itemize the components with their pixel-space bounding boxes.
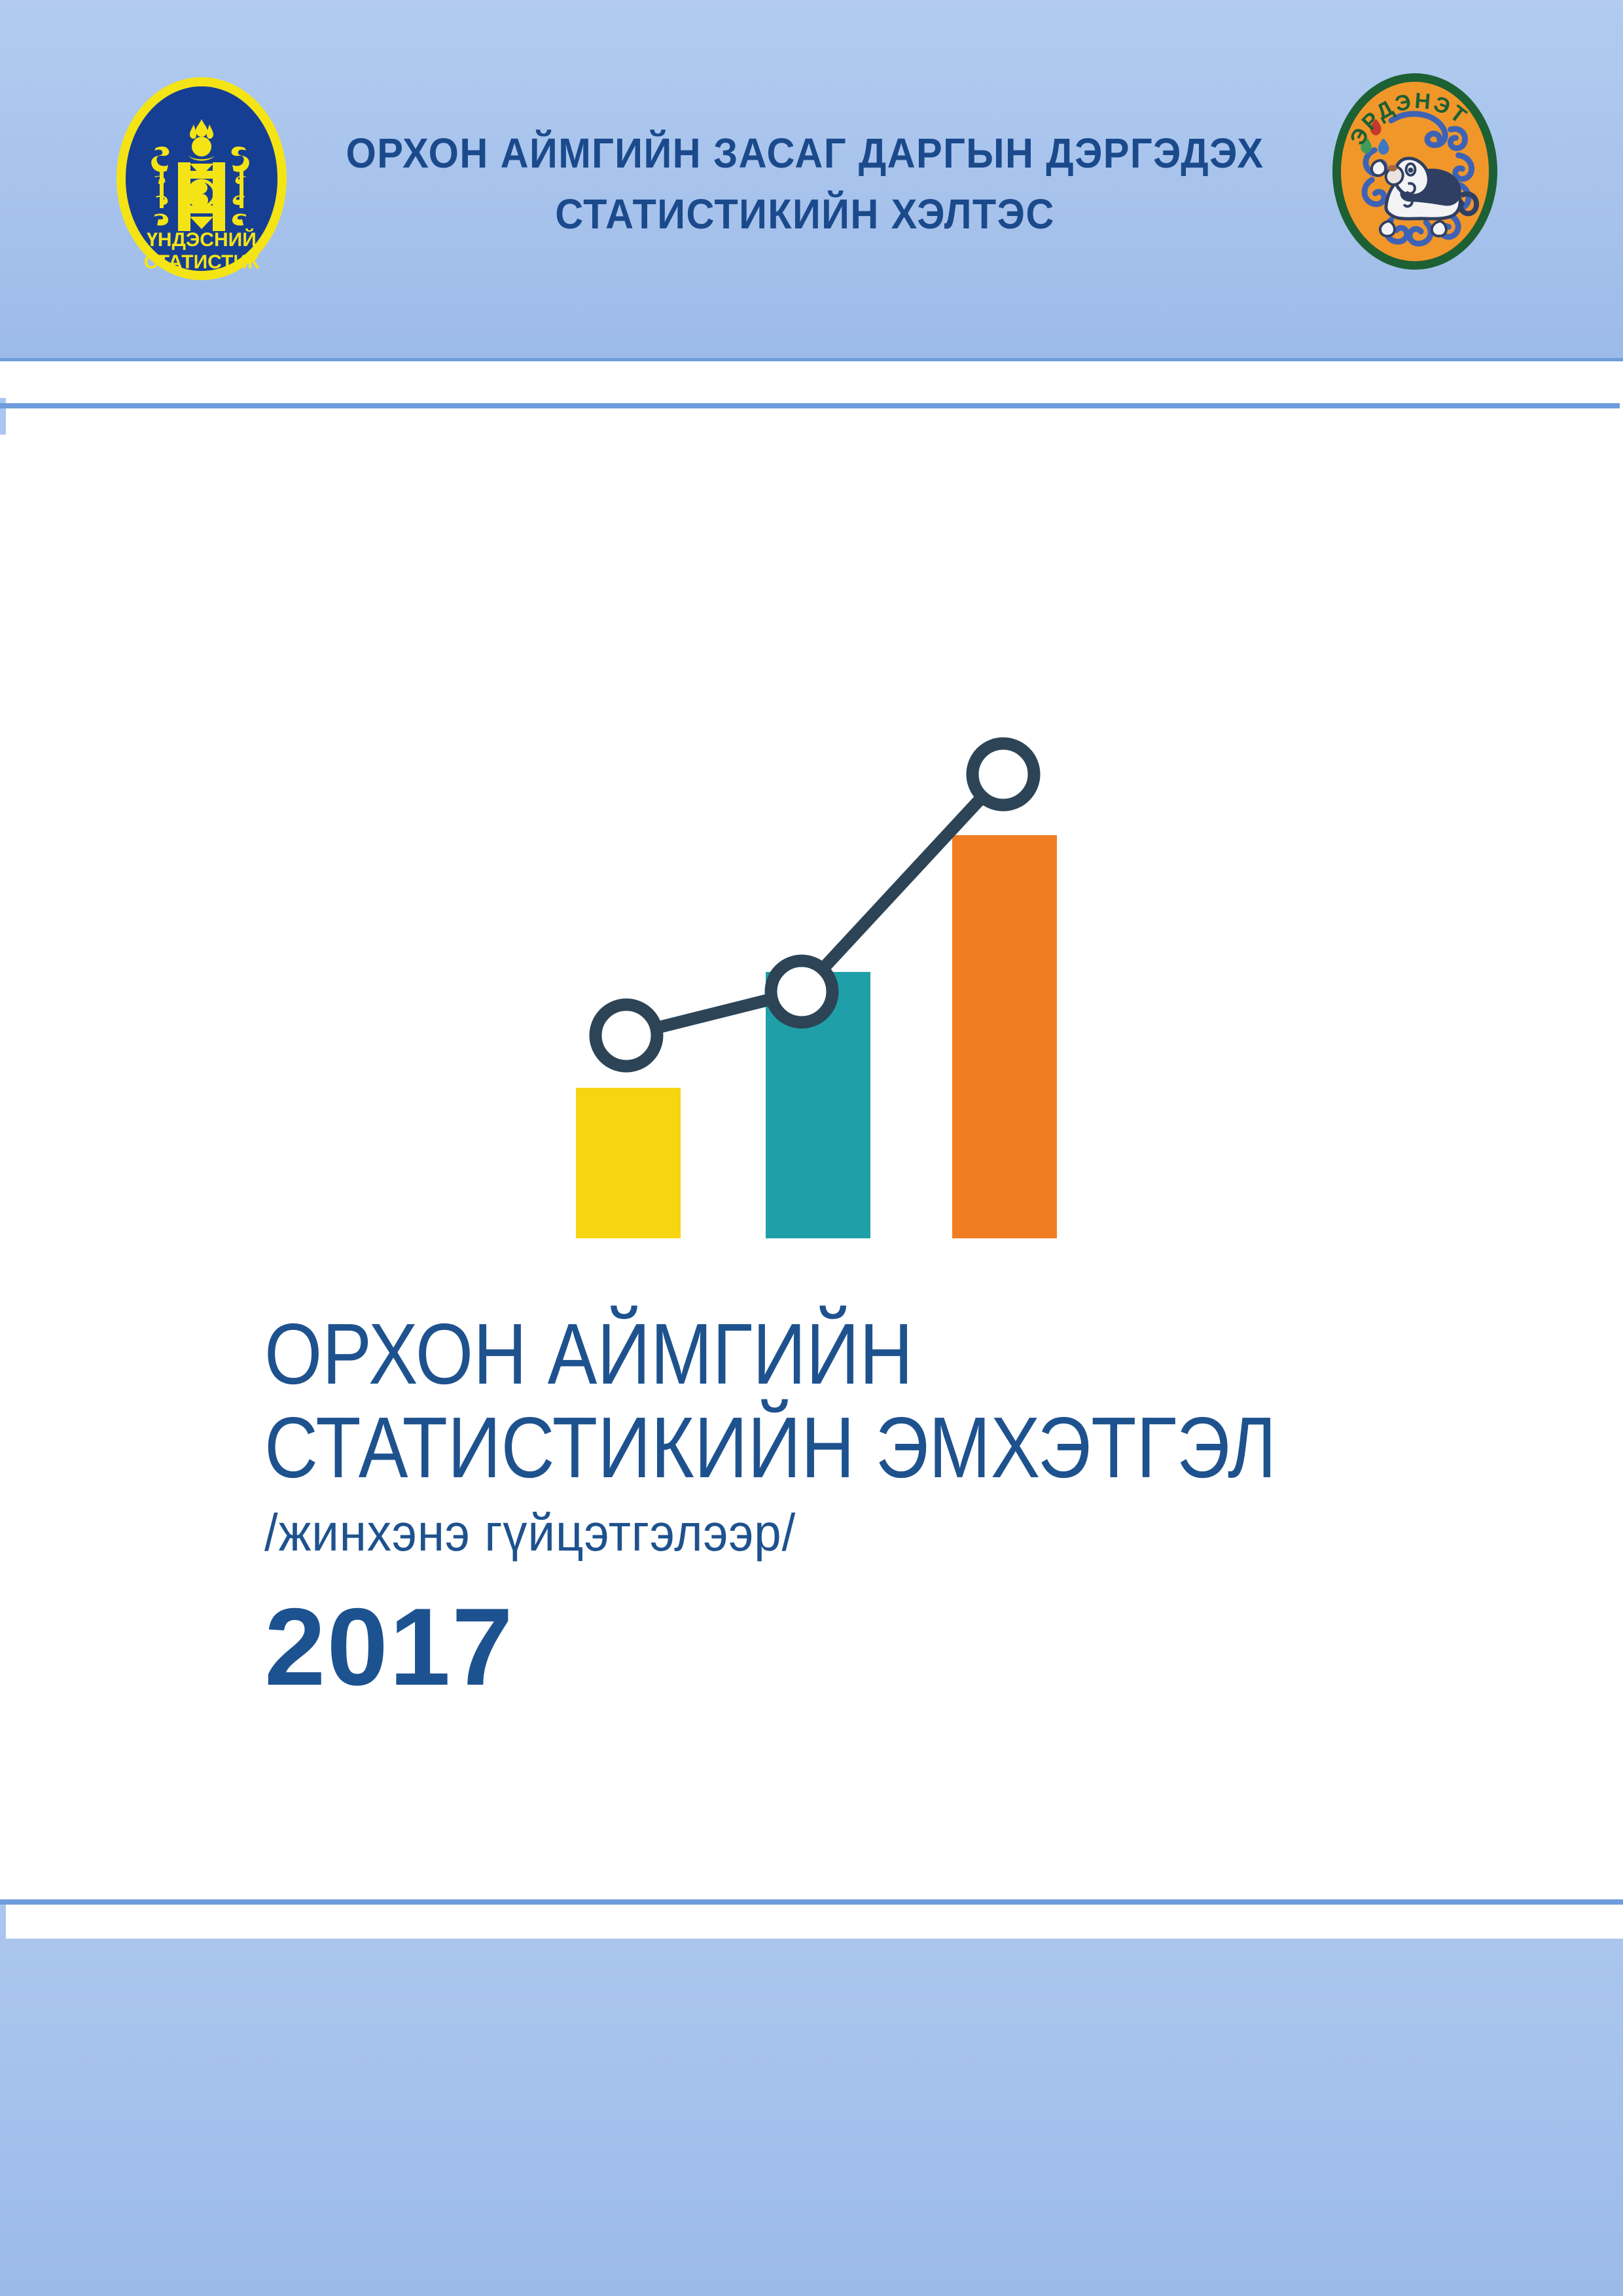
cover-chart-graphic (537, 694, 1099, 1257)
chart-marker-3 (972, 744, 1034, 805)
divider-rule-bottom (0, 1899, 1623, 1905)
chart-bar-1 (576, 1088, 681, 1238)
page-title-line-1: ОРХОН АЙМГИЙН (264, 1308, 1368, 1401)
nso-label-line-2: СТАТИСТИК (144, 251, 260, 273)
chart-bar-3 (952, 835, 1057, 1238)
organization-title: ОРХОН АЙМГИЙН ЗАСАГ ДАРГЫН ДЭРГЭДЭХ СТАТ… (342, 123, 1268, 245)
publication-year: 2017 (264, 1592, 514, 1702)
chart-marker-2 (771, 961, 832, 1022)
chart-marker-1 (596, 1005, 657, 1066)
organization-title-line-1: ОРХОН АЙМГИЙН ЗАСАГ ДАРГЫН ДЭРГЭДЭХ (342, 123, 1268, 184)
left-edge-tab-bottom (0, 1905, 6, 1941)
footer-band (0, 1939, 1623, 2296)
page-title-line-2: СТАТИСТИКИЙН ЭМХЭТГЭЛ (264, 1401, 1368, 1495)
page-subtitle: /жинхэнэ гүйцэтгэлээр/ (264, 1504, 796, 1562)
soyombo-icon: ҮНДЭСНИЙ СТАТИСТИК (116, 77, 287, 280)
erdenet-inner-field: ЭРДЭНЭТ (1341, 82, 1489, 262)
page-title: ОРХОН АЙМГИЙН СТАТИСТИКИЙН ЭМХЭТГЭЛ (264, 1308, 1547, 1494)
divider-rule-top (0, 403, 1620, 408)
organization-title-line-2: СТАТИСТИКИЙН ХЭЛТЭС (342, 184, 1268, 245)
nso-label-line-1: ҮНДЭСНИЙ (147, 228, 257, 251)
bar-chart-icon (537, 694, 1099, 1257)
cover-page: ҮНДЭСНИЙ СТАТИСТИК (0, 0, 1623, 2296)
snow-lion-icon: ЭРДЭНЭТ (1341, 82, 1489, 262)
erdenet-city-logo: ЭРДЭНЭТ (1332, 73, 1497, 270)
national-statistics-office-logo: ҮНДЭСНИЙ СТАТИСТИК (116, 77, 287, 280)
